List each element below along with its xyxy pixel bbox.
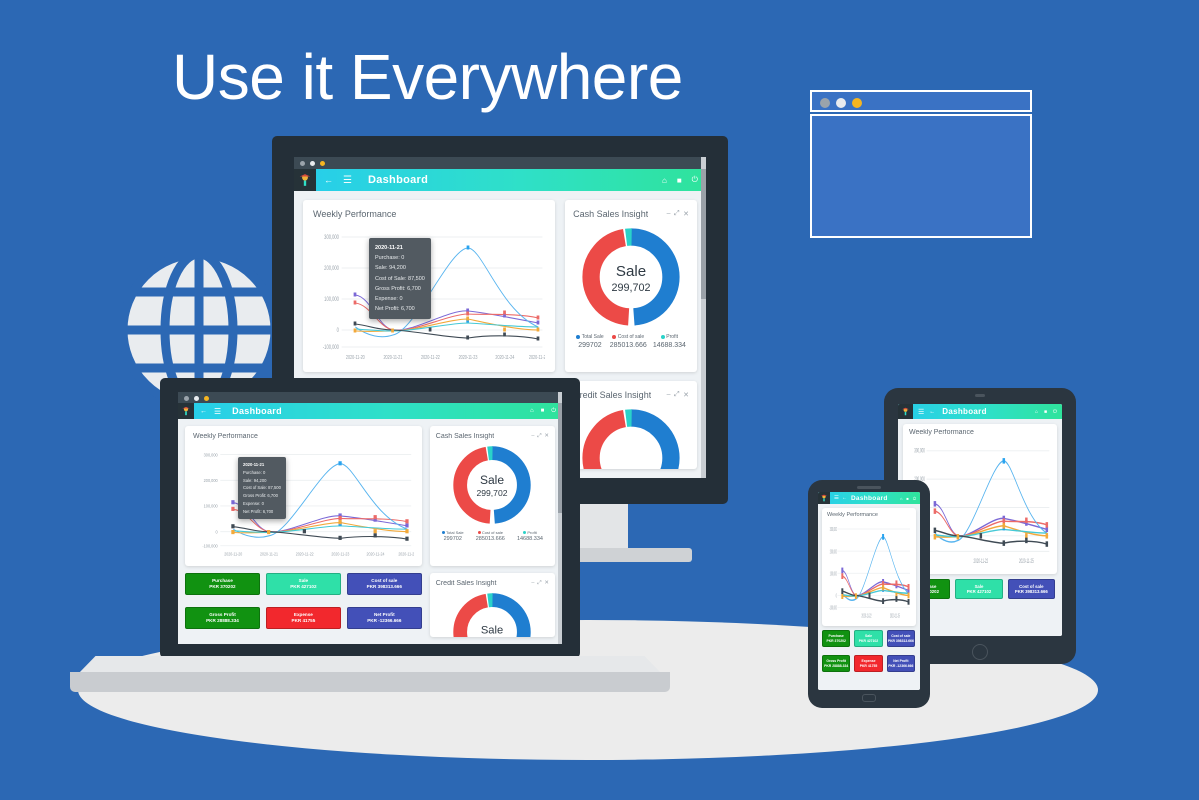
minimize-icon[interactable]: – (531, 580, 534, 587)
legend-value-total-sale: 299702 (576, 342, 603, 349)
dashboard-content: Weekly Performance 300,000200,000 100,00… (818, 504, 920, 690)
tile-net-profit-value: PKR -12366.666 (888, 664, 913, 668)
svg-text:300,000: 300,000 (204, 452, 218, 458)
legend-item-cost-of-sale: Cost of sale 285013.666 (476, 530, 505, 542)
legend-item-profit: Profit 14688.334 (653, 334, 686, 349)
back-arrow-icon[interactable]: ← (929, 409, 935, 415)
tooltip-row-sale: Sale: 94,200 (375, 263, 425, 273)
app-logo-icon[interactable] (898, 404, 913, 419)
app-header: ☰ ← Dashboard ⌂ ■ ⏻ (818, 492, 920, 504)
dashboard-app-laptop: ← ☰ Dashboard ⌂ ■ ⏻ Weekly Performance (178, 403, 562, 644)
tile-purchase-value: PKR 370202 (209, 584, 235, 590)
tile-cost-of-sale[interactable]: Cost of sale PKR 398313.666 (347, 573, 422, 595)
tooltip-row-gross-profit: Gross Profit: 6,700 (375, 284, 425, 294)
svg-text:2020-11-20: 2020-11-20 (224, 551, 243, 557)
svg-text:100,000: 100,000 (204, 503, 218, 509)
legend-item-total-sale: Total Sale 299702 (442, 530, 464, 542)
phone-speaker-icon (857, 486, 881, 489)
traffic-light-close-icon[interactable] (320, 161, 325, 166)
message-icon[interactable]: ■ (677, 176, 682, 185)
traffic-light-close-icon[interactable] (204, 396, 209, 401)
app-title: Dashboard (942, 407, 987, 416)
tile-net-profit-value: PKR -12366.666 (367, 618, 401, 624)
legend-item-profit: Profit 14688.334 (517, 530, 543, 542)
tile-sale[interactable]: Sale PKR 427102 (266, 573, 341, 595)
svg-text:0: 0 (216, 529, 219, 535)
weekly-performance-card: Weekly Performance 300,000200,000 (185, 426, 422, 566)
app-title: Dashboard (851, 495, 888, 502)
svg-text:0: 0 (836, 592, 837, 599)
app-header: ☰ ← Dashboard ⌂ ■ ⏻ (898, 404, 1062, 419)
legend-item-cost-of-sale: Cost of sale 285013.666 (610, 334, 647, 349)
tooltip-row-expense: Expense: 0 (243, 500, 281, 508)
tile-cost-of-sale[interactable]: Cost of sale PKR 398313.666 (1008, 579, 1055, 599)
tile-purchase[interactable]: Purchase PKR 370202 (822, 630, 850, 647)
dashboard-app-phone: ☰ ← Dashboard ⌂ ■ ⏻ Weekly Performance (818, 492, 920, 690)
legend-value-total-sale: 299702 (442, 536, 464, 542)
svg-text:2020-11-22: 2020-11-22 (973, 558, 988, 566)
tile-expense-value: PKR 41755 (860, 664, 878, 668)
svg-text:2020-11-24: 2020-11-24 (367, 551, 386, 557)
app-header: ← ☰ Dashboard ⌂ ■ ⏻ (294, 169, 706, 191)
cash-sales-insight-title: Cash Sales Insight (573, 209, 648, 219)
laptop-screen: ← ☰ Dashboard ⌂ ■ ⏻ Weekly Performance (178, 392, 562, 644)
cash-sales-donut-chart: Sale 299,702 (449, 442, 535, 528)
message-icon[interactable]: ■ (541, 408, 545, 414)
back-arrow-icon[interactable]: ← (324, 175, 333, 185)
cash-sales-legend: Total Sale 299702 Cost of sale 285013.66… (573, 334, 689, 349)
tooltip-row-net-profit: Net Profit: 6,700 (243, 508, 281, 516)
tile-gross-profit[interactable]: Gross Profit PKR 28888.334 (822, 655, 850, 672)
power-icon[interactable]: ⏻ (551, 408, 556, 415)
tile-expense-value: PKR 41755 (292, 618, 316, 624)
tooltip-date: 2020-11-21 (375, 243, 425, 253)
tile-cost-of-sale-value: PKR 398313.666 (367, 584, 402, 590)
legend-label-total-sale: Total Sale (582, 334, 604, 340)
browser-window-outline (810, 90, 1032, 238)
svg-text:200,000: 200,000 (830, 548, 837, 555)
expand-icon[interactable]: ⤢ (674, 210, 680, 218)
credit-donut-wrap (573, 404, 689, 469)
traffic-light-maximize-icon[interactable] (310, 161, 315, 166)
back-arrow-icon[interactable]: ← (200, 408, 207, 415)
expand-icon[interactable]: ⤢ (674, 391, 680, 399)
svg-text:200,000: 200,000 (324, 265, 339, 272)
svg-text:100,000: 100,000 (830, 570, 837, 577)
tile-sale-value: PKR 427102 (859, 639, 878, 643)
chart-tooltip: 2020-11-21 Purchase: 0 Sale: 94,200 Cost… (238, 457, 286, 519)
svg-text:Sale: Sale (616, 263, 646, 280)
poster-stage: Use it Everywhere (0, 0, 1199, 800)
legend-label-cost-of-sale: Cost of sale (482, 530, 503, 535)
power-icon[interactable]: ⏻ (913, 496, 916, 501)
weekly-performance-title: Weekly Performance (193, 433, 258, 440)
tooltip-date: 2020-11-21 (243, 461, 281, 469)
back-arrow-icon[interactable]: ← (842, 495, 847, 501)
svg-text:Sale: Sale (480, 473, 504, 487)
legend-label-cost-of-sale: Cost of sale (618, 334, 644, 340)
cash-donut-wrap: Sale 299,702 (573, 223, 689, 331)
stat-tiles: Purchase PKR 370202 Sale PKR 427102 Cost… (822, 630, 916, 672)
svg-text:0: 0 (337, 327, 339, 334)
laptop-base (70, 672, 670, 692)
svg-text:300,000: 300,000 (830, 526, 837, 533)
cash-sales-insight-card: Cash Sales Insight – ⤢ ✕ (565, 200, 697, 372)
svg-text:2020-11-25: 2020-11-25 (890, 612, 900, 619)
legend-label-profit: Profit (527, 530, 536, 535)
svg-text:-100,000: -100,000 (829, 604, 837, 611)
window-chrome-bar (294, 157, 706, 169)
home-icon[interactable]: ⌂ (662, 176, 667, 185)
tablet-camera-icon (975, 394, 985, 397)
weekly-performance-chart: 300,000200,000 100,0000-100,000 2020-11-… (909, 438, 1051, 566)
browser-dot-2-icon (836, 98, 846, 108)
svg-text:299,702: 299,702 (477, 488, 508, 498)
tooltip-row-expense: Expense: 0 (375, 294, 425, 304)
page-title: Use it Everywhere (172, 44, 683, 111)
cash-sales-insight-title: Cash Sales Insight (436, 433, 494, 440)
svg-text:2020-11-23: 2020-11-23 (331, 551, 350, 557)
svg-text:-100,000: -100,000 (202, 543, 218, 549)
hamburger-menu-icon[interactable]: ☰ (834, 495, 839, 501)
close-icon[interactable]: ✕ (544, 433, 549, 440)
hamburger-menu-icon[interactable]: ☰ (343, 175, 352, 186)
app-title: Dashboard (368, 174, 428, 186)
phone-home-button[interactable] (862, 694, 876, 702)
legend-value-profit: 14688.334 (517, 536, 543, 542)
expand-icon[interactable]: ⤢ (537, 433, 541, 440)
app-logo-icon[interactable] (818, 492, 830, 504)
tile-net-profit[interactable]: Net Profit PKR -12366.666 (887, 655, 915, 672)
credit-sales-donut-chart: Sale (449, 589, 535, 637)
hamburger-menu-icon[interactable]: ☰ (214, 407, 221, 416)
weekly-performance-title: Weekly Performance (313, 209, 396, 219)
browser-dot-1-icon (820, 98, 830, 108)
cash-sales-donut-chart: Sale 299,702 (577, 223, 685, 331)
tile-purchase[interactable]: Purchase PKR 370202 (185, 573, 260, 595)
minimize-icon[interactable]: – (667, 391, 671, 399)
credit-sales-donut-chart (577, 404, 685, 469)
message-icon[interactable]: ■ (1044, 409, 1047, 415)
vertical-scrollbar-thumb[interactable] (558, 403, 562, 513)
tile-sale-value: PKR 427102 (290, 584, 316, 590)
weekly-performance-title: Weekly Performance (909, 429, 974, 436)
vertical-scrollbar-thumb[interactable] (701, 169, 706, 299)
laptop-window-chrome (178, 392, 562, 403)
credit-sales-insight-card: Credit Sales Insight – ⤢ ✕ (565, 381, 697, 469)
power-icon[interactable]: ⏻ (1053, 409, 1057, 415)
tile-sale-value: PKR 427102 (967, 589, 992, 594)
tile-cost-of-sale-value: PKR 398313.666 (888, 639, 914, 643)
legend-label-total-sale: Total Sale (446, 530, 464, 535)
app-logo-icon[interactable] (294, 169, 316, 191)
svg-text:299,702: 299,702 (612, 282, 651, 294)
svg-text:2020-11-21: 2020-11-21 (383, 354, 402, 360)
svg-text:200,000: 200,000 (204, 477, 218, 483)
browser-titlebar (810, 90, 1032, 112)
tile-net-profit[interactable]: Net Profit PKR -12366.666 (347, 607, 422, 629)
dashboard-content: Weekly Performance 300,000200,000 (178, 419, 562, 644)
weekly-performance-chart: 300,000200,000 100,0000-100,000 2020-11-… (827, 519, 911, 619)
app-logo-icon[interactable] (178, 403, 194, 419)
tooltip-row-cost-of-sale: Cost of Sale: 87,500 (243, 484, 281, 492)
tile-gross-profit-value: PKR 28888.334 (206, 618, 239, 624)
traffic-light-minimize-icon[interactable] (300, 161, 305, 166)
minimize-icon[interactable]: – (667, 210, 671, 218)
svg-text:2020-11-21: 2020-11-21 (260, 551, 279, 557)
chart-tooltip: 2020-11-21 Purchase: 0 Sale: 94,200 Cost… (369, 238, 431, 319)
power-icon[interactable]: ⏻ (692, 175, 698, 185)
tile-gross-profit[interactable]: Gross Profit PKR 28888.334 (185, 607, 260, 629)
tooltip-row-purchase: Purchase: 0 (243, 469, 281, 477)
svg-text:Sale: Sale (481, 625, 503, 637)
tile-expense[interactable]: Expense PKR 41755 (266, 607, 341, 629)
svg-text:2020-11-25: 2020-11-25 (398, 551, 413, 557)
svg-text:2020-11-25: 2020-11-25 (529, 354, 545, 360)
close-icon[interactable]: ✕ (544, 580, 549, 587)
close-icon[interactable]: ✕ (683, 210, 689, 218)
svg-text:100,000: 100,000 (324, 296, 339, 303)
traffic-light-maximize-icon[interactable] (194, 396, 199, 401)
tablet-home-button[interactable] (972, 644, 988, 660)
tile-cost-of-sale-value: PKR 398313.666 (1015, 589, 1048, 594)
credit-sales-insight-card: Credit Sales Insight – ⤢ ✕ (430, 573, 555, 637)
cash-sales-legend: Total Sale 299702 Cost of sale 285013.66… (436, 530, 549, 542)
home-icon[interactable]: ⌂ (530, 408, 534, 414)
legend-label-profit: Profit (666, 334, 678, 340)
weekly-performance-card: Weekly Performance 300,000200,000 100,00… (822, 508, 916, 626)
tooltip-row-purchase: Purchase: 0 (375, 253, 425, 263)
weekly-performance-chart: 300,000200,000 100,0000-100,000 2020-11-… (193, 443, 414, 559)
credit-sales-insight-title: Credit Sales Insight (573, 390, 651, 400)
tooltip-row-cost-of-sale: Cost of Sale: 87,500 (375, 274, 425, 284)
vertical-scrollbar-track[interactable] (558, 392, 562, 644)
weekly-performance-card: Weekly Performance (303, 200, 555, 372)
credit-sales-insight-title: Credit Sales Insight (436, 580, 497, 587)
home-icon[interactable]: ⌂ (900, 496, 902, 501)
expand-icon[interactable]: ⤢ (537, 580, 541, 587)
cash-sales-insight-card: Cash Sales Insight – ⤢ ✕ (430, 426, 555, 566)
stat-tiles: Purchase PKR 370202 Sale PKR 427102 Cost… (185, 573, 422, 629)
tile-sale[interactable]: Sale PKR 427102 (854, 630, 882, 647)
traffic-light-minimize-icon[interactable] (184, 396, 189, 401)
svg-text:300,000: 300,000 (324, 234, 339, 241)
legend-value-cost-of-sale: 285013.666 (476, 536, 505, 542)
tile-gross-profit-value: PKR 28888.334 (824, 664, 848, 668)
legend-item-total-sale: Total Sale 299702 (576, 334, 603, 349)
svg-text:-100,000: -100,000 (323, 344, 339, 351)
svg-text:2020-11-25: 2020-11-25 (1019, 558, 1034, 566)
svg-text:2020-11-22: 2020-11-22 (296, 551, 315, 557)
app-title: Dashboard (232, 406, 282, 416)
tooltip-row-gross-profit: Gross Profit: 6,700 (243, 492, 281, 500)
app-header: ← ☰ Dashboard ⌂ ■ ⏻ (178, 403, 562, 419)
tile-sale[interactable]: Sale PKR 427102 (955, 579, 1002, 599)
tile-purchase-value: PKR 370202 (826, 639, 845, 643)
tooltip-row-sale: Sale: 94,200 (243, 477, 281, 485)
browser-viewport (810, 114, 1032, 238)
message-icon[interactable]: ■ (906, 496, 908, 501)
svg-text:2020-11-20: 2020-11-20 (346, 354, 365, 360)
svg-text:2020-11-24: 2020-11-24 (495, 354, 514, 360)
close-icon[interactable]: ✕ (683, 391, 689, 399)
phone-screen: ☰ ← Dashboard ⌂ ■ ⏻ Weekly Performance (818, 492, 920, 690)
svg-text:2020-11-22: 2020-11-22 (421, 354, 440, 360)
vertical-scrollbar-track[interactable] (701, 157, 706, 478)
tile-expense[interactable]: Expense PKR 41755 (854, 655, 882, 672)
svg-text:2020-11-22: 2020-11-22 (862, 612, 872, 619)
legend-value-cost-of-sale: 285013.666 (610, 342, 647, 349)
tile-cost-of-sale[interactable]: Cost of sale PKR 398313.666 (887, 630, 915, 647)
svg-text:300,000: 300,000 (914, 447, 925, 455)
hamburger-menu-icon[interactable]: ☰ (918, 408, 924, 416)
svg-text:2020-11-23: 2020-11-23 (459, 354, 478, 360)
legend-value-profit: 14688.334 (653, 342, 686, 349)
minimize-icon[interactable]: – (531, 433, 534, 440)
weekly-performance-title: Weekly Performance (827, 512, 878, 518)
tooltip-row-net-profit: Net Profit: 6,700 (375, 304, 425, 314)
browser-dot-3-icon (852, 98, 862, 108)
home-icon[interactable]: ⌂ (1035, 409, 1038, 415)
